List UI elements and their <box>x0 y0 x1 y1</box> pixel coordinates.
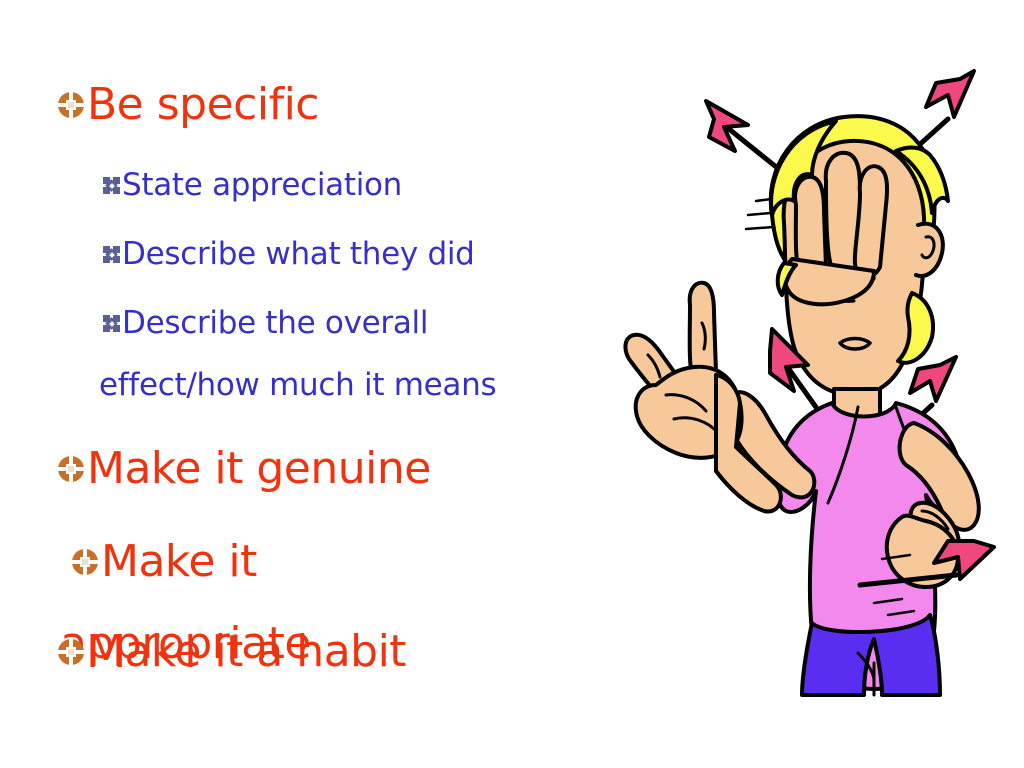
ear <box>916 224 943 276</box>
bullet-text: Be specific <box>87 83 319 127</box>
target-bullet-icon <box>58 639 84 665</box>
checker-square-bullet-icon <box>103 177 120 194</box>
bullet-text: State appreciation <box>122 170 402 201</box>
mouth <box>840 339 870 350</box>
bullet-item-make-it-a-habit[interactable]: Make it a habit <box>58 630 406 674</box>
bullet-item-describe-what-they-did[interactable]: Describe what they did <box>103 239 475 270</box>
bullet-item-make-it-appropriate[interactable]: Make it <box>72 540 257 584</box>
target-bullet-icon <box>72 549 98 575</box>
bullet-item-describe-the-overall[interactable]: Describe the overall <box>103 308 428 339</box>
checker-square-bullet-icon <box>103 315 120 332</box>
bullet-text: Make it a habit <box>87 630 406 674</box>
target-bullet-icon <box>58 456 84 482</box>
bullet-text: Make it <box>101 540 257 584</box>
bullet-text-wrap-effect-how-much: effect/how much it means <box>99 370 496 401</box>
checker-square-bullet-icon <box>103 246 120 263</box>
bullet-text: Make it genuine <box>87 447 431 491</box>
cartoon-boy-with-arrows-illustration <box>596 55 1024 715</box>
bullet-text: Describe the overall <box>122 308 428 339</box>
target-bullet-icon <box>58 92 84 118</box>
pointing-hand <box>625 283 780 512</box>
bullet-item-make-it-genuine[interactable]: Make it genuine <box>58 447 431 491</box>
bullet-item-state-appreciation[interactable]: State appreciation <box>103 170 402 201</box>
slide-canvas: Be specific State appreciation Describe … <box>0 0 1024 768</box>
bullet-text: Describe what they did <box>122 239 475 270</box>
bullet-item-be-specific[interactable]: Be specific <box>58 83 319 127</box>
